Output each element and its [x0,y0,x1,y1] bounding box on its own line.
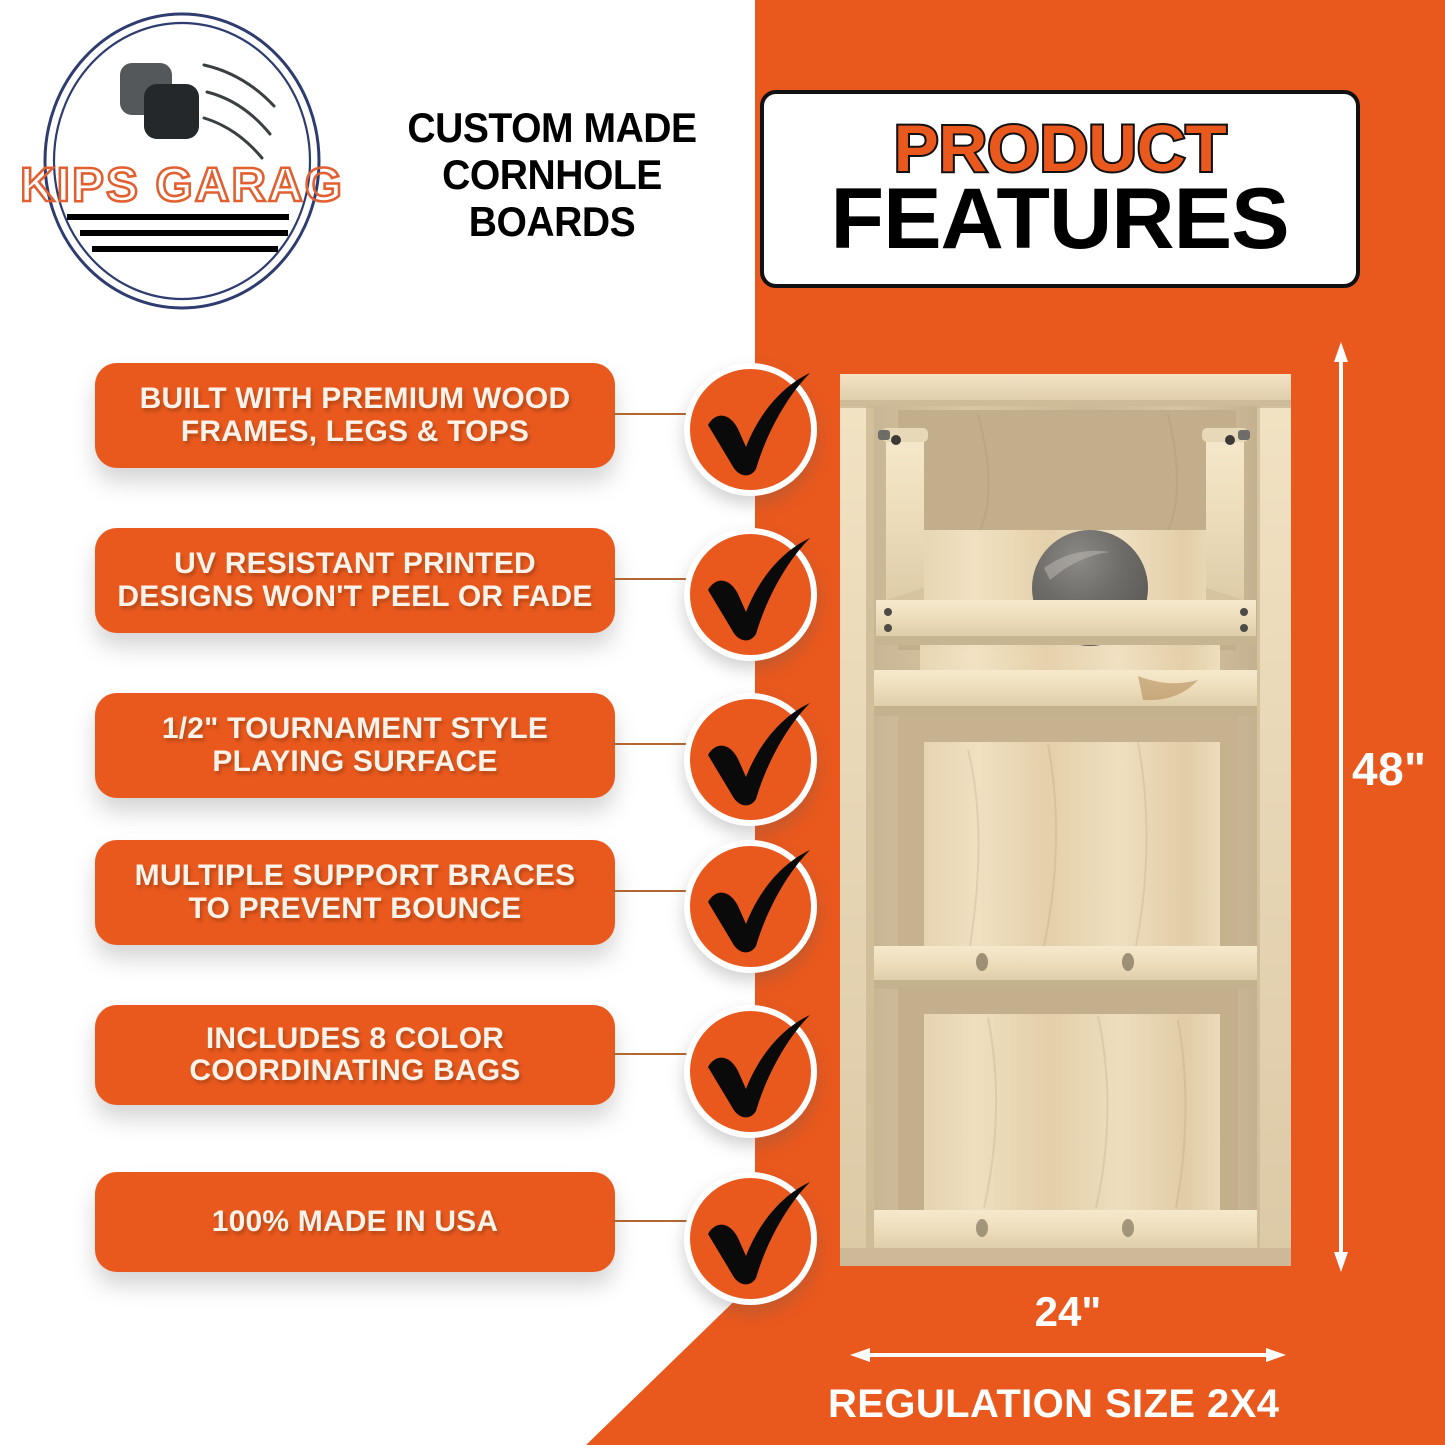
checkmark-icon [686,1162,836,1312]
title-line-2: CORNHOLE [366,151,738,198]
checkmark-icon [686,518,836,668]
feature-label: BUILT WITH PREMIUM WOOD FRAMES, LEGS & T… [111,383,599,448]
title-line-3: BOARDS [366,198,738,245]
height-dimension-label: 48" [1352,742,1426,796]
feature-pill: 1/2" TOURNAMENT STYLE PLAYING SURFACE [95,693,615,798]
check-badge [684,528,817,661]
check-badge [684,1005,817,1138]
checkmark-icon [686,995,836,1145]
feature-row-premium-wood: BUILT WITH PREMIUM WOOD FRAMES, LEGS & T… [0,363,860,513]
feature-label: INCLUDES 8 COLOR COORDINATING BAGS [111,1023,599,1088]
check-badge [684,363,817,496]
feature-pill: INCLUDES 8 COLOR COORDINATING BAGS [95,1005,615,1105]
checkmark-icon [686,353,836,503]
feature-pill: UV RESISTANT PRINTED DESIGNS WON'T PEEL … [95,528,615,633]
infographic-canvas: SKIPS GARAGE CUSTOM MADE CORNHOLE BOARDS… [0,0,1445,1445]
checkmark-icon [686,830,836,980]
brand-logo: SKIPS GARAGE [22,8,342,318]
feature-pill: BUILT WITH PREMIUM WOOD FRAMES, LEGS & T… [95,363,615,468]
feature-label: MULTIPLE SUPPORT BRACES TO PREVENT BOUNC… [111,860,599,925]
checkmark-icon [686,683,836,833]
feature-row-tournament-surface: 1/2" TOURNAMENT STYLE PLAYING SURFACE [0,693,860,843]
width-dimension-arrow [850,1348,1286,1362]
check-badge [684,693,817,826]
feature-label: 1/2" TOURNAMENT STYLE PLAYING SURFACE [111,713,599,778]
width-dimension-label: 24" [850,1288,1286,1336]
feature-label: UV RESISTANT PRINTED DESIGNS WON'T PEEL … [111,548,599,613]
feature-row-included-bags: INCLUDES 8 COLOR COORDINATING BAGS [0,1005,860,1155]
logo-artwork: SKIPS GARAGE [22,8,342,318]
title-line-1: CUSTOM MADE [366,104,738,151]
badge-word-features: FEATURES [831,179,1289,261]
height-dimension-arrow [1334,342,1348,1272]
feature-pill: MULTIPLE SUPPORT BRACES TO PREVENT BOUNC… [95,840,615,945]
cornhole-board-illustration [838,370,1293,1270]
page-title: CUSTOM MADE CORNHOLE BOARDS [366,104,738,245]
feature-pill: 100% MADE IN USA [95,1172,615,1272]
product-photo [838,370,1293,1270]
check-badge [684,840,817,973]
feature-label: 100% MADE IN USA [212,1206,499,1238]
regulation-size-note: REGULATION SIZE 2X4 [828,1382,1348,1427]
feature-row-made-in-usa: 100% MADE IN USA [0,1172,860,1322]
svg-text:SKIPS GARAGE: SKIPS GARAGE [22,159,342,212]
product-features-badge: PRODUCT FEATURES [760,90,1360,288]
check-badge [684,1172,817,1305]
feature-row-support-braces: MULTIPLE SUPPORT BRACES TO PREVENT BOUNC… [0,840,860,990]
feature-row-uv-resistant: UV RESISTANT PRINTED DESIGNS WON'T PEEL … [0,528,860,678]
